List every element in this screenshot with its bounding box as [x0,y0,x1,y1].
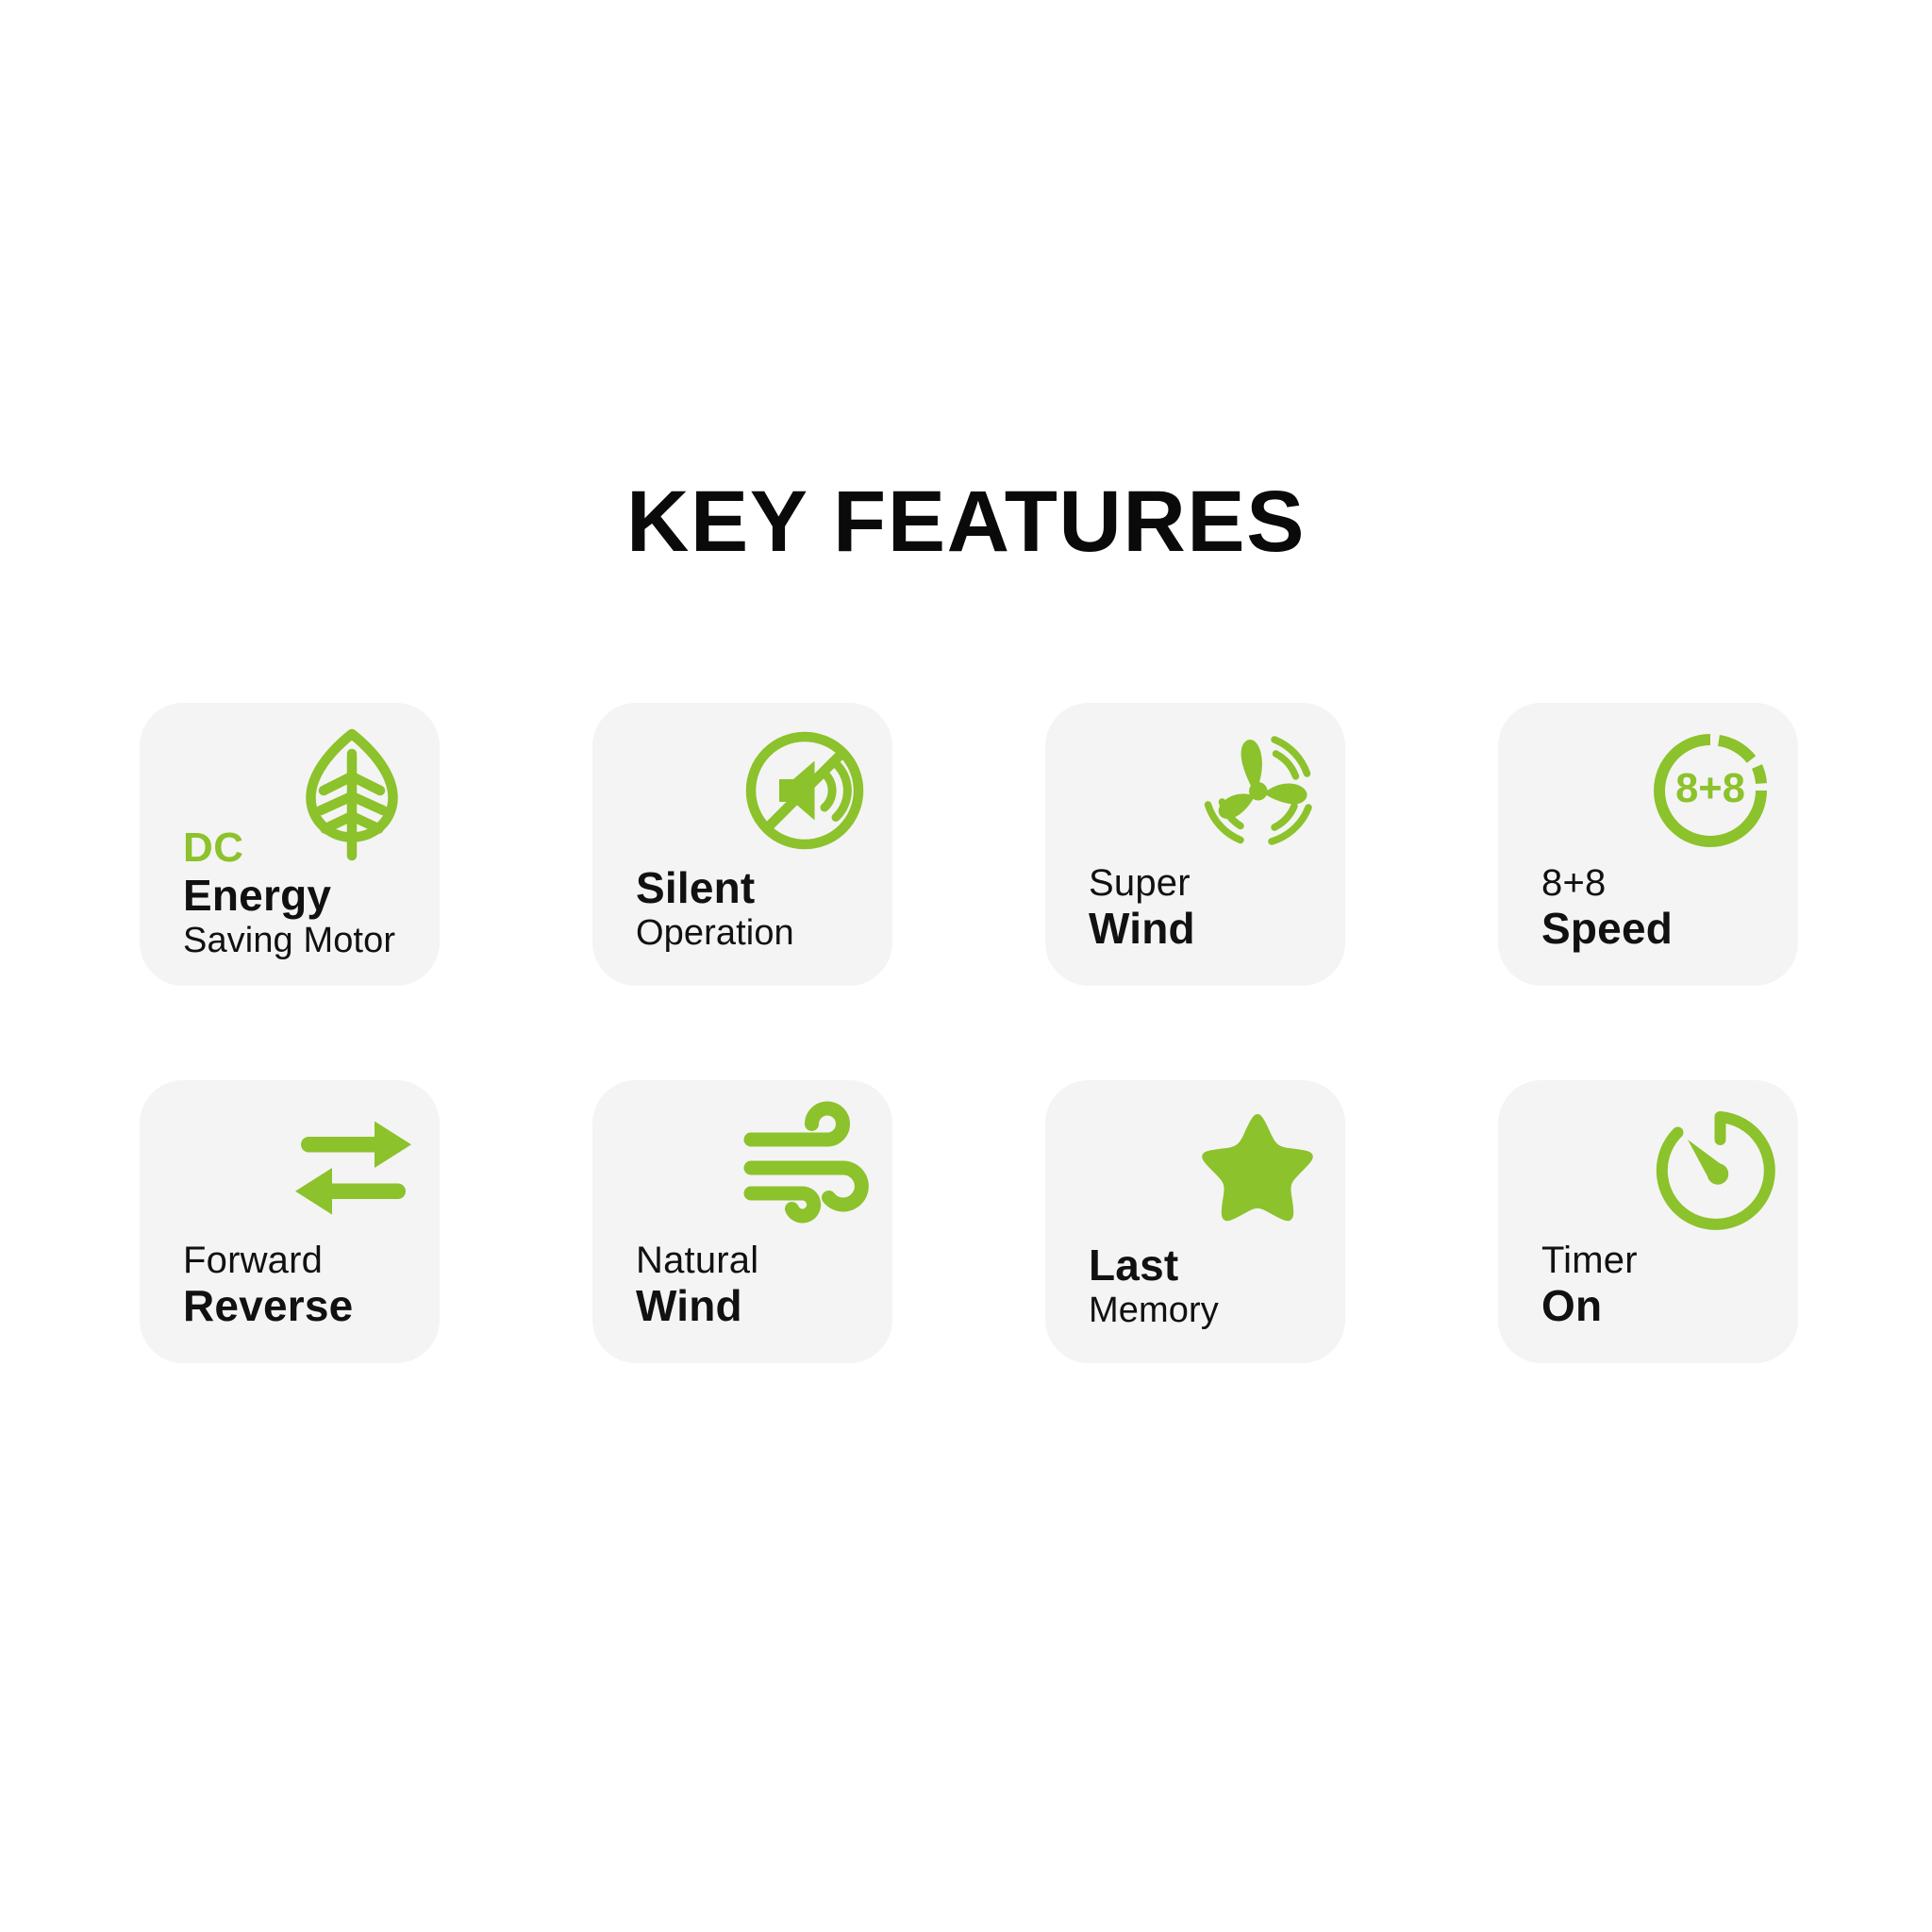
feature-card-last-memory[interactable]: Last Memory [1045,1080,1345,1363]
feature-line-2: Operation [636,913,879,954]
feature-card-text: 8+8 Speed [1541,862,1785,954]
feature-line-1: Forward [183,1240,426,1282]
fan-blade-icon [1187,720,1328,861]
feature-line-2: Speed [1541,905,1785,954]
feature-card-silent-operation[interactable]: Silent Operation [592,703,892,986]
feature-card-text: Forward Reverse [183,1240,426,1331]
star-icon [1187,1097,1328,1239]
feature-card-forward-reverse[interactable]: Forward Reverse [140,1080,440,1363]
two-way-arrows-icon [281,1097,423,1239]
feature-card-text: Natural Wind [636,1240,879,1331]
timer-icon [1640,1097,1781,1239]
feature-card-super-wind[interactable]: Super Wind [1045,703,1345,986]
mute-speaker-icon [734,720,875,861]
features-grid: DC Energy Saving Motor Silent Operation [140,703,1800,1363]
feature-line-1: DC [183,824,426,872]
feature-line-2: Wind [1089,905,1332,954]
feature-card-speed-8-plus-8[interactable]: 8+8 8+8 Speed [1498,703,1798,986]
feature-line-2: Reverse [183,1282,426,1331]
feature-line-2: Wind [636,1282,879,1331]
feature-card-text: Silent Operation [636,864,879,954]
feature-line-2: Memory [1089,1291,1332,1331]
key-features-page: KEY FEATURES DC Energy Saving Motor [0,0,1932,1932]
feature-line-1: Silent [636,864,879,913]
wind-lines-icon [734,1097,875,1239]
feature-line-1: Timer [1541,1240,1785,1282]
feature-line-2: Energy [183,872,426,921]
feature-card-text: Timer On [1541,1240,1785,1331]
feature-card-natural-wind[interactable]: Natural Wind [592,1080,892,1363]
feature-line-3: Saving Motor [183,921,426,961]
speed-gauge-icon: 8+8 [1640,720,1781,861]
feature-card-dc-energy-saving-motor[interactable]: DC Energy Saving Motor [140,703,440,986]
feature-line-1: 8+8 [1541,862,1785,905]
feature-line-2: On [1541,1282,1785,1331]
feature-card-timer-on[interactable]: Timer On [1498,1080,1798,1363]
feature-line-1: Last [1089,1241,1332,1291]
feature-card-text: DC Energy Saving Motor [183,824,426,961]
speed-gauge-label: 8+8 [1675,766,1745,811]
feature-card-text: Super Wind [1089,862,1332,954]
page-title: KEY FEATURES [0,476,1932,568]
feature-line-1: Super [1089,862,1332,905]
feature-card-text: Last Memory [1089,1241,1332,1331]
feature-line-1: Natural [636,1240,879,1282]
